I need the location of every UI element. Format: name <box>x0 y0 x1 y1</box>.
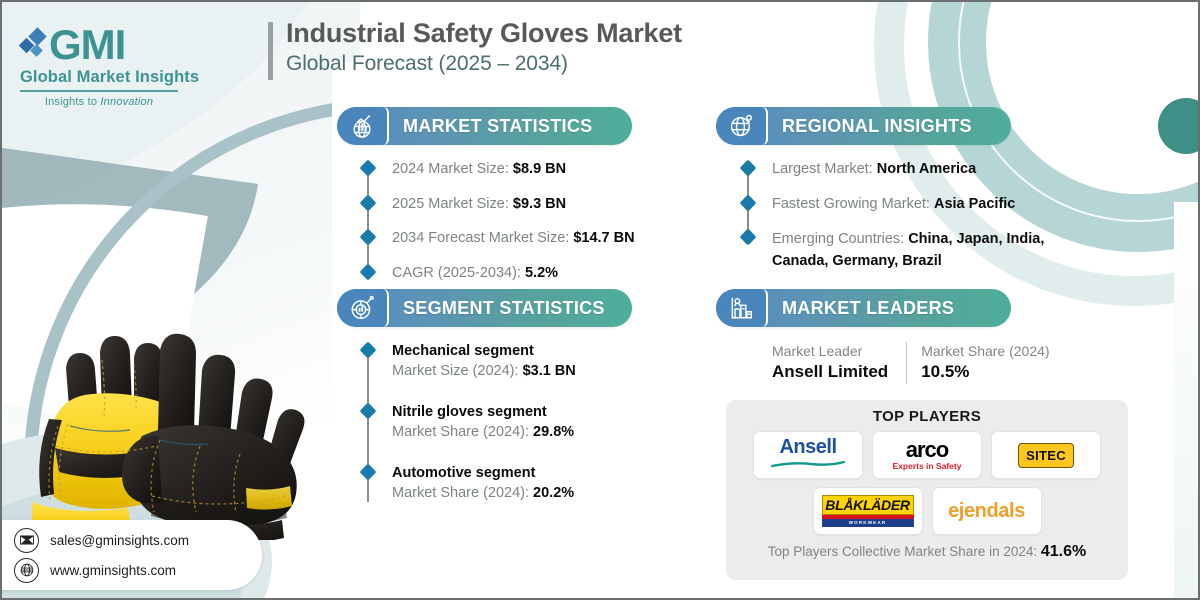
list-item-text: Fastest Growing Market: Asia Pacific <box>772 195 1092 215</box>
contact-website-row[interactable]: www.gminsights.com <box>14 558 262 583</box>
ejendals-wordmark: ejendals <box>948 500 1025 523</box>
list-item-text: CAGR (2025-2034): 5.2% <box>392 264 692 284</box>
logo-tagline-b: Innovation <box>100 96 153 108</box>
list-item-heading: Mechanical segment <box>392 342 692 362</box>
list-item-label: Market Size (2024): <box>392 363 523 379</box>
player-logo-sitec[interactable]: SITEC <box>991 431 1101 479</box>
list-item: Automotive segment Market Share (2024): … <box>362 464 692 503</box>
list-item-value: $14.7 BN <box>573 230 634 246</box>
player-logo-blaklader[interactable]: BLÅKLÄDER WORKWEAR <box>813 487 923 535</box>
envelope-icon <box>14 528 39 553</box>
list-item-heading: Automotive segment <box>392 464 692 484</box>
top-players-panel: TOP PLAYERS Ansell arco Experts in Safet… <box>726 400 1128 580</box>
logo-divider <box>20 90 178 92</box>
section-header-market-statistics: MARKET STATISTICS <box>337 107 632 145</box>
vertical-divider <box>906 342 907 384</box>
gmi-logo: GMI Global Market Insights Insights to I… <box>20 24 180 108</box>
globe-pin-icon <box>716 107 768 145</box>
section-label: SEGMENT STATISTICS <box>389 298 632 319</box>
list-item-label: 2025 Market Size: <box>392 196 513 212</box>
list-item-value: 29.8% <box>533 424 574 440</box>
contact-website-text: www.gminsights.com <box>50 563 176 578</box>
infographic-canvas: GMI Global Market Insights Insights to I… <box>0 0 1200 600</box>
list-item-label: 2034 Forecast Market Size: <box>392 230 573 246</box>
arco-wordmark: arco <box>893 439 962 461</box>
market-share-value: 10.5% <box>921 362 1049 382</box>
podium-leaderboard-icon <box>716 289 768 327</box>
page-title: Industrial Safety Gloves Market <box>286 18 682 49</box>
list-item: 2025 Market Size: $9.3 BN <box>362 195 692 215</box>
list-item: Fastest Growing Market: Asia Pacific <box>742 195 1092 215</box>
list-item: Emerging Countries: China, Japan, India,… <box>742 229 1092 273</box>
logo-company-name: Global Market Insights <box>20 68 180 87</box>
list-item-value: $8.9 BN <box>513 161 566 177</box>
collective-share-value: 41.6% <box>1041 543 1086 560</box>
list-item-text: Nitrile gloves segment Market Share (202… <box>392 403 692 442</box>
list-item-label: Fastest Growing Market: <box>772 196 934 212</box>
page-subtitle: Global Forecast (2025 – 2034) <box>286 52 682 76</box>
list-item-value: Asia Pacific <box>934 196 1015 212</box>
bullet-diamond-icon <box>740 229 757 246</box>
title-accent-bar <box>268 22 273 80</box>
top-players-row-2: BLÅKLÄDER WORKWEAR ejendals <box>738 487 1116 535</box>
safety-gloves-photo <box>10 240 340 540</box>
market-share-label: Market Share (2024) <box>921 342 1049 360</box>
list-item-text: Emerging Countries: China, Japan, India,… <box>772 229 1092 273</box>
list-item-value: 20.2% <box>533 485 574 501</box>
market-leader-column: Market Leader Ansell Limited <box>772 342 888 382</box>
bullet-diamond-icon <box>360 403 377 420</box>
market-leader-summary: Market Leader Ansell Limited Market Shar… <box>772 342 1050 384</box>
list-item-label: Emerging Countries: <box>772 231 908 247</box>
player-logo-ansell[interactable]: Ansell <box>753 431 863 479</box>
list-item-text: Largest Market: North America <box>772 160 1092 180</box>
blaklader-subtitle: WORKWEAR <box>822 519 914 527</box>
contact-email-text: sales@gminsights.com <box>50 533 189 548</box>
list-item-text: 2034 Forecast Market Size: $14.7 BN <box>392 229 692 249</box>
logo-tagline: Insights to Innovation <box>20 96 178 108</box>
page-title-block: Industrial Safety Gloves Market Global F… <box>268 18 682 76</box>
top-players-title: TOP PLAYERS <box>738 408 1116 425</box>
list-item-text: 2025 Market Size: $9.3 BN <box>392 195 692 215</box>
list-connector-line <box>367 168 369 266</box>
list-item: 2024 Market Size: $8.9 BN <box>362 160 692 180</box>
bullet-diamond-icon <box>360 464 377 481</box>
logo-wordmark: GMI <box>49 24 125 66</box>
list-item-label: 2024 Market Size: <box>392 161 513 177</box>
gmi-diamond-icon <box>20 25 46 65</box>
list-item-text: Automotive segment Market Share (2024): … <box>392 464 692 503</box>
bullet-diamond-icon <box>360 229 377 246</box>
segment-donut-icon <box>337 289 389 327</box>
bullet-diamond-icon <box>360 263 377 280</box>
bullet-diamond-icon <box>360 194 377 211</box>
regional-insights-list: Largest Market: North America Fastest Gr… <box>742 160 1092 273</box>
list-item-value: 5.2% <box>525 265 558 281</box>
bullet-diamond-icon <box>740 160 757 177</box>
section-label: MARKET STATISTICS <box>389 116 632 137</box>
globe-icon <box>14 558 39 583</box>
list-item-label: CAGR (2025-2034): <box>392 265 525 281</box>
list-item-text: Mechanical segment Market Size (2024): $… <box>392 342 692 381</box>
list-item-value: $3.1 BN <box>523 363 576 379</box>
list-item: 2034 Forecast Market Size: $14.7 BN <box>362 229 692 249</box>
section-header-regional-insights: REGIONAL INSIGHTS <box>716 107 1011 145</box>
list-item: Largest Market: North America <box>742 160 1092 180</box>
market-statistics-list: 2024 Market Size: $8.9 BN 2025 Market Si… <box>362 160 692 283</box>
list-item-value: North America <box>877 161 976 177</box>
list-item-label: Largest Market: <box>772 161 877 177</box>
market-share-column: Market Share (2024) 10.5% <box>921 342 1049 382</box>
section-label: MARKET LEADERS <box>768 298 1011 319</box>
ansell-swoosh-icon <box>771 461 845 469</box>
player-logo-arco[interactable]: arco Experts in Safety <box>872 431 982 479</box>
bullet-diamond-icon <box>740 194 757 211</box>
top-players-row-1: Ansell arco Experts in Safety SITEC <box>738 431 1116 479</box>
contact-card: sales@gminsights.com www.gminsights.com <box>0 520 262 590</box>
section-label: REGIONAL INSIGHTS <box>768 116 1011 137</box>
list-item-label: Market Share (2024): <box>392 485 533 501</box>
ansell-wordmark: Ansell <box>771 437 845 457</box>
list-item-heading: Nitrile gloves segment <box>392 403 692 423</box>
logo-tagline-a: Insights to <box>45 96 101 108</box>
blaklader-wordmark: BLÅKLÄDER <box>822 495 914 515</box>
contact-email-row[interactable]: sales@gminsights.com <box>14 528 262 553</box>
top-players-collective-share: Top Players Collective Market Share in 2… <box>738 543 1116 561</box>
bullet-diamond-icon <box>360 160 377 177</box>
list-item-label: Market Share (2024): <box>392 424 533 440</box>
list-item-value: $9.3 BN <box>513 196 566 212</box>
arco-tagline: Experts in Safety <box>893 462 962 471</box>
market-leader-label: Market Leader <box>772 342 888 360</box>
player-logo-ejendals[interactable]: ejendals <box>932 487 1042 535</box>
list-item: Mechanical segment Market Size (2024): $… <box>362 342 692 381</box>
section-header-segment-statistics: SEGMENT STATISTICS <box>337 289 632 327</box>
collective-share-label: Top Players Collective Market Share in 2… <box>768 544 1041 559</box>
list-item-text: 2024 Market Size: $8.9 BN <box>392 160 692 180</box>
section-header-market-leaders: MARKET LEADERS <box>716 289 1011 327</box>
list-item: Nitrile gloves segment Market Share (202… <box>362 403 692 442</box>
bullet-diamond-icon <box>360 342 377 359</box>
list-item: CAGR (2025-2034): 5.2% <box>362 264 692 284</box>
sitec-wordmark: SITEC <box>1018 443 1074 468</box>
market-chart-globe-icon <box>337 107 389 145</box>
market-leader-value: Ansell Limited <box>772 362 888 382</box>
segment-statistics-list: Mechanical segment Market Size (2024): $… <box>362 342 692 503</box>
